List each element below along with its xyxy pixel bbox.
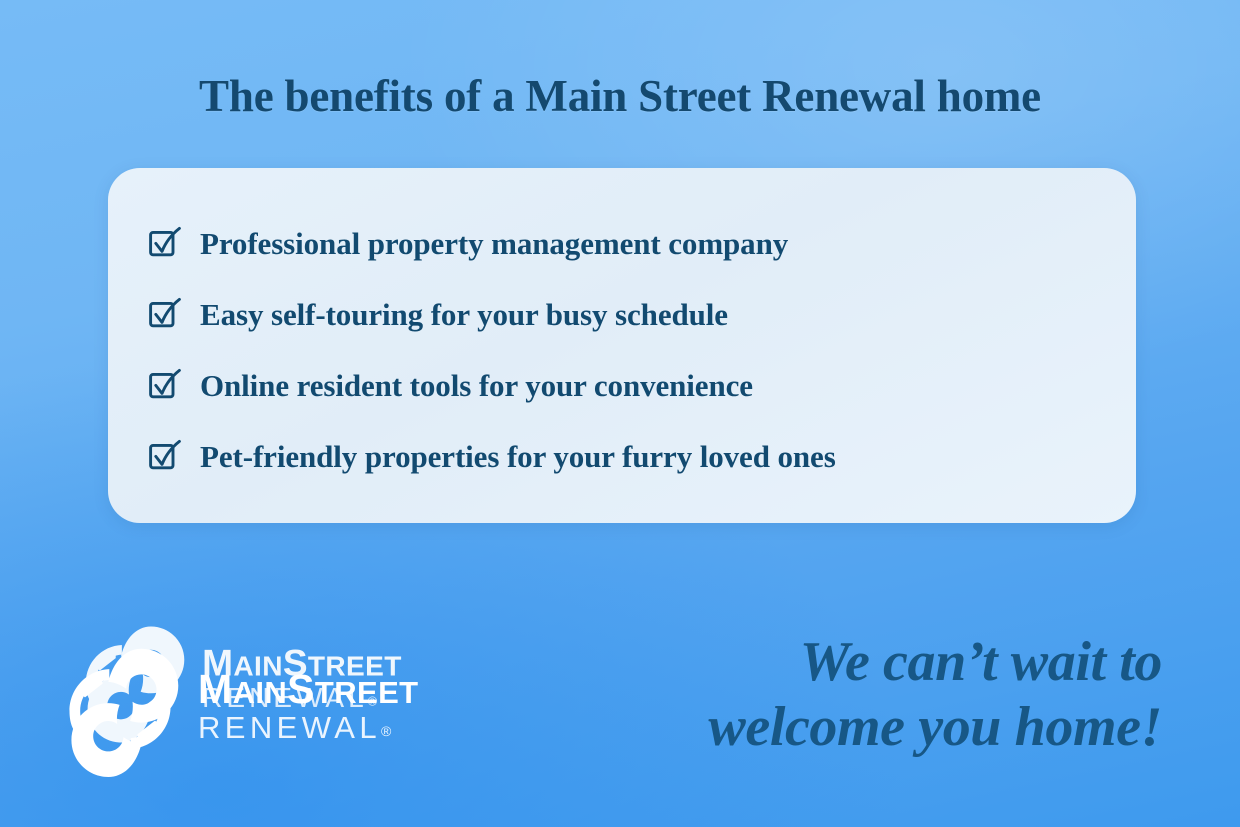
checked-checkbox-icon: [148, 296, 182, 330]
list-item-label: Pet-friendly properties for your furry l…: [200, 439, 836, 475]
poster-canvas: The benefits of a Main Street Renewal ho…: [0, 0, 1240, 827]
benefits-card: Professional property management company…: [108, 168, 1136, 523]
checked-checkbox-icon: [148, 438, 182, 472]
brand-logo-lockup: MAINSTREET RENEWAL® MAINSTREET RENEWAL®: [52, 629, 522, 789]
list-item: Professional property management company: [148, 208, 1106, 279]
list-item-label: Easy self-touring for your busy schedule: [200, 297, 728, 333]
brand-logo-primary: MAINSTREET RENEWAL®: [52, 629, 522, 789]
list-item-label: Online resident tools for your convenien…: [200, 368, 753, 404]
brand-wordmark-line-2: RENEWAL®: [198, 709, 419, 748]
page-title: The benefits of a Main Street Renewal ho…: [0, 72, 1240, 121]
tagline: We can’t wait to welcome you home!: [542, 630, 1162, 761]
list-item: Pet-friendly properties for your furry l…: [148, 421, 1106, 492]
checked-checkbox-icon: [148, 367, 182, 401]
list-item: Online resident tools for your convenien…: [148, 350, 1106, 421]
list-item-label: Professional property management company: [200, 226, 788, 262]
list-item: Easy self-touring for your busy schedule: [148, 279, 1106, 350]
checked-checkbox-icon: [148, 225, 182, 259]
mainstreet-renewal-interlocking-rings-icon: [52, 641, 188, 777]
benefits-list: Professional property management company…: [148, 208, 1106, 492]
tagline-line-1: We can’t wait to: [800, 631, 1162, 693]
brand-wordmark: MAINSTREET RENEWAL®: [198, 670, 419, 748]
brand-wordmark-line-1: MAINSTREET: [198, 670, 419, 709]
tagline-line-2: welcome you home!: [708, 696, 1162, 758]
